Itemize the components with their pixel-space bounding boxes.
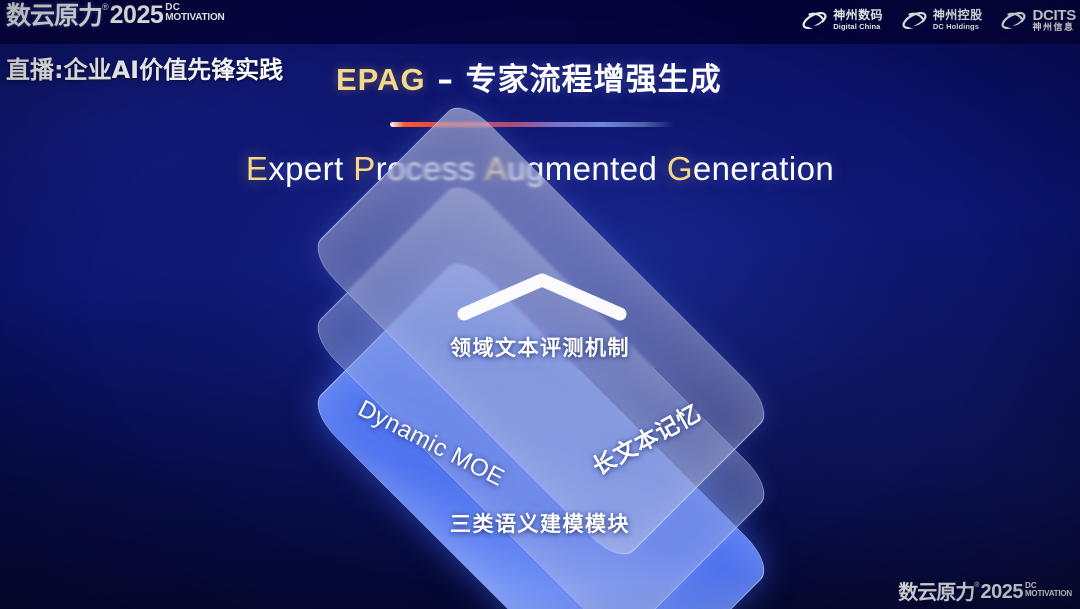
- slide-canvas: 数云原力 ® 2025 DC MOTIVATION 直播:企业AI价值先锋实践 …: [0, 0, 1080, 609]
- layer-label-bottom: 三类语义建模模块: [0, 508, 1080, 538]
- brand-name-cn: 数云原力: [6, 2, 102, 29]
- partner-logo-group: 神州数码 Digital China 神州控股 DC Holdings: [801, 3, 1076, 37]
- partner-text: 神州数码 Digital China: [833, 9, 883, 31]
- brand-year: 2025: [110, 2, 164, 29]
- chevron-up-icon: [454, 268, 630, 324]
- title-separator: –: [426, 62, 466, 98]
- brand-dc-motivation: DC MOTIVATION: [165, 3, 224, 23]
- spiral-swoosh-icon: [901, 8, 928, 33]
- partner-logo-dc-holdings: 神州控股 DC Holdings: [901, 8, 983, 33]
- spiral-swoosh-icon: [1000, 8, 1027, 33]
- footer-brand-year: 2025: [980, 581, 1023, 603]
- footer-brand-dc-motivation: DC MOTIVATION: [1025, 582, 1072, 598]
- footer-registered-mark-icon: ®: [974, 581, 979, 591]
- partner-name-en: DCITS: [1032, 8, 1076, 23]
- diagram-layer-top[interactable]: [320, 110, 760, 550]
- partner-text: DCITS 神州信息: [1032, 8, 1076, 33]
- layer-label-top: 领域文本评测机制: [0, 332, 1080, 362]
- layer-slab-top: [307, 97, 775, 565]
- partner-text: 神州控股 DC Holdings: [933, 9, 983, 31]
- page-title: EPAG – 专家流程增强生成: [336, 54, 722, 99]
- brand-dc-line2: MOTIVATION: [165, 13, 224, 23]
- registered-mark-icon: ®: [102, 2, 109, 12]
- subtitle-cap-e: E: [246, 150, 268, 187]
- partner-name-cn: 神州控股: [933, 9, 983, 21]
- title-chinese: 专家流程增强生成: [466, 62, 722, 98]
- partner-name-en: Digital China: [833, 23, 883, 31]
- live-subtitle: 直播:企业AI价值先锋实践: [6, 50, 283, 85]
- partner-name-cn: 神州信息: [1032, 24, 1076, 33]
- footer-brand-name-cn: 数云原力: [898, 581, 974, 603]
- spiral-swoosh-icon: [801, 8, 828, 33]
- partner-name-en: DC Holdings: [933, 23, 983, 31]
- partner-name-cn: 神州数码: [833, 9, 883, 21]
- footer-brand-watermark: 数云原力 ® 2025 DC MOTIVATION: [898, 581, 1072, 605]
- partner-logo-digital-china: 神州数码 Digital China: [801, 8, 883, 33]
- brand-logo: 数云原力 ® 2025 DC MOTIVATION: [6, 2, 225, 32]
- title-acronym: EPAG: [336, 62, 426, 97]
- partner-logo-dcits: DCITS 神州信息: [1000, 8, 1076, 33]
- footer-brand-dc-line2: MOTIVATION: [1025, 590, 1072, 598]
